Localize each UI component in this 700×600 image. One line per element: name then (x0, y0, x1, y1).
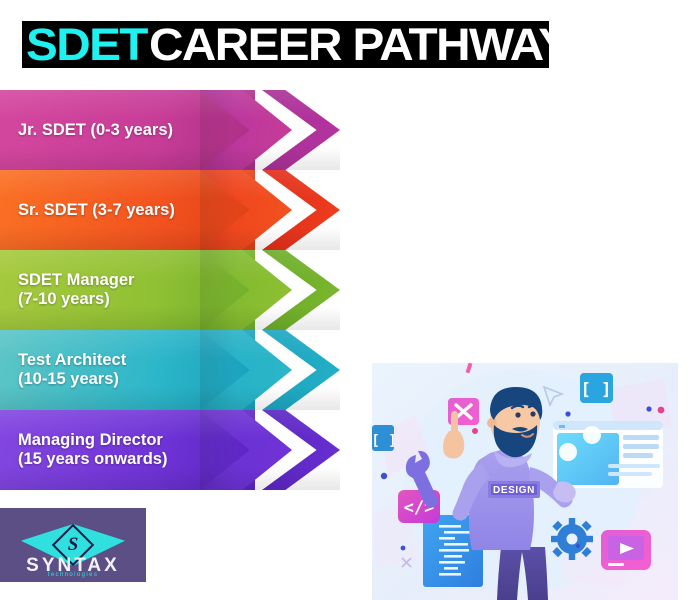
illustration-svg: </> [ ] [ ] (372, 363, 678, 600)
page-title: SDET CAREER PATHWAY (22, 21, 549, 68)
pathway-stage-row[interactable]: Managing Director (15 years onwards) (0, 410, 340, 490)
pathway-stage-row[interactable]: Sr. SDET (3-7 years) (0, 170, 340, 250)
stage-label-line2: (15 years onwards) (18, 450, 167, 469)
poster-canvas: SDET CAREER PATHWAY Jr. SDET (0-3 years) (0, 0, 700, 600)
syntax-logo[interactable]: S SYNTAX technologies (0, 508, 146, 582)
career-pathway-chart: Jr. SDET (0-3 years) Sr. SDET (3-7 years… (0, 90, 340, 490)
brackets-icon-left: [ ] (372, 425, 397, 451)
stage-label: SDET Manager (7-10 years) (18, 250, 134, 330)
pathway-stage-row[interactable]: SDET Manager (7-10 years) (0, 250, 340, 330)
logo-tagline: technologies (0, 572, 146, 578)
developer-illustration: </> [ ] [ ] (372, 363, 678, 600)
svg-text:[ ]: [ ] (372, 433, 397, 449)
stage-label-line1: Sr. SDET (3-7 years) (18, 201, 175, 220)
browser-window-icon (553, 421, 663, 488)
stage-label: Test Architect (10-15 years) (18, 330, 126, 410)
shirt-text: DESIGN (493, 485, 535, 496)
play-video-icon (601, 530, 651, 570)
svg-text:[ ]: [ ] (581, 380, 612, 400)
stage-label-line1: SDET Manager (18, 271, 134, 290)
stage-label-line2: (10-15 years) (18, 370, 126, 389)
title-accent-word: SDET (26, 22, 147, 67)
gear-icon (551, 518, 593, 560)
title-main-words: CAREER PATHWAY (149, 22, 568, 67)
stage-label-line1: Managing Director (18, 431, 167, 450)
stage-label-line2: (7-10 years) (18, 290, 134, 309)
shirt-badge: DESIGN (488, 481, 540, 498)
stage-label-line1: Test Architect (18, 351, 126, 370)
stage-label: Jr. SDET (0-3 years) (18, 90, 173, 170)
stage-label-line1: Jr. SDET (0-3 years) (18, 121, 173, 140)
stage-label: Sr. SDET (3-7 years) (18, 170, 175, 250)
stage-label: Managing Director (15 years onwards) (18, 410, 167, 490)
pathway-stage-row[interactable]: Jr. SDET (0-3 years) (0, 90, 340, 170)
brackets-icon-right: [ ] (580, 373, 613, 403)
pathway-stage-row[interactable]: Test Architect (10-15 years) (0, 330, 340, 410)
